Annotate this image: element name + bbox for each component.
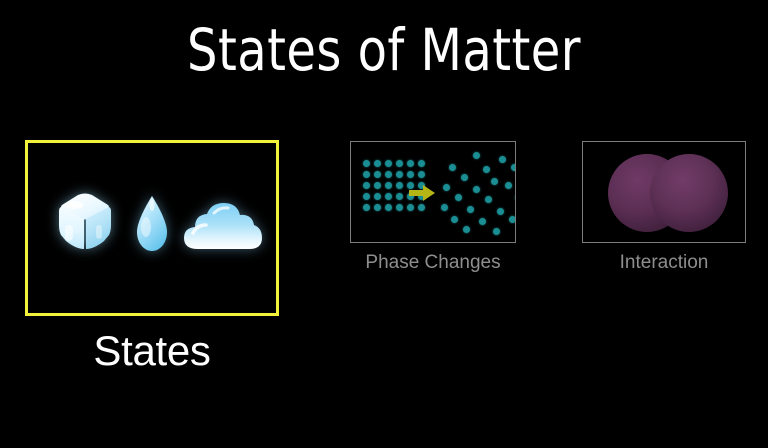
- gas-particle: [493, 228, 500, 235]
- arrow-right-icon: [409, 184, 435, 202]
- lattice-particle: [396, 171, 403, 178]
- gas-particle: [491, 178, 498, 185]
- gas-particle: [467, 206, 474, 213]
- lattice-particle: [385, 204, 392, 211]
- lattice-particle: [363, 160, 370, 167]
- card-interaction[interactable]: Interaction: [582, 141, 746, 243]
- lattice-particle: [363, 182, 370, 189]
- lattice-particle: [418, 160, 425, 167]
- lattice-particle: [363, 193, 370, 200]
- gas-particle: [479, 218, 486, 225]
- lattice-particle: [418, 204, 425, 211]
- lattice-particle: [396, 182, 403, 189]
- lattice-particle: [385, 160, 392, 167]
- states-card-art: [28, 143, 276, 313]
- gas-particle: [443, 184, 450, 191]
- lattice-particle: [396, 204, 403, 211]
- lattice-particle: [374, 171, 381, 178]
- card-phase-changes[interactable]: Phase Changes: [350, 141, 516, 243]
- lattice-particle: [374, 182, 381, 189]
- lattice-particle: [418, 171, 425, 178]
- card-label-interaction: Interaction: [583, 252, 745, 274]
- lattice-particle: [407, 204, 414, 211]
- gas-particle: [509, 216, 515, 223]
- lattice-particle: [396, 193, 403, 200]
- cloud-icon: [180, 197, 264, 255]
- gas-particle: [473, 186, 480, 193]
- lattice-particle: [363, 204, 370, 211]
- lattice-particle: [385, 182, 392, 189]
- gas-particle: [499, 156, 506, 163]
- gas-particle: [449, 164, 456, 171]
- ice-cube-icon: [54, 191, 116, 253]
- lattice-particle: [385, 193, 392, 200]
- phase-changes-card-art: [351, 142, 515, 242]
- card-states[interactable]: States: [25, 140, 279, 316]
- water-droplet-icon: [133, 195, 171, 253]
- lattice-particle: [396, 160, 403, 167]
- gas-particle: [511, 164, 515, 171]
- sphere-right: [650, 154, 728, 232]
- interaction-card-art: [583, 142, 745, 242]
- gas-particle: [483, 166, 490, 173]
- gas-particle: [473, 152, 480, 159]
- gas-particle: [505, 182, 512, 189]
- gas-particle: [451, 216, 458, 223]
- lattice-particle: [374, 193, 381, 200]
- lattice-particle: [374, 204, 381, 211]
- gas-particle: [455, 194, 462, 201]
- lattice-particle: [363, 171, 370, 178]
- gas-particle: [461, 174, 468, 181]
- page-title: States of Matter: [31, 12, 738, 88]
- lattice-particle: [407, 160, 414, 167]
- gas-particle: [485, 196, 492, 203]
- gas-particle: [497, 208, 504, 215]
- lattice-particle: [385, 171, 392, 178]
- gas-particle: [441, 204, 448, 211]
- card-label-states: States: [28, 327, 276, 375]
- card-label-phase-changes: Phase Changes: [351, 252, 515, 274]
- lattice-particle: [374, 160, 381, 167]
- slide-canvas: States of Matter: [0, 0, 768, 448]
- lattice-particle: [407, 171, 414, 178]
- gas-particle: [463, 226, 470, 233]
